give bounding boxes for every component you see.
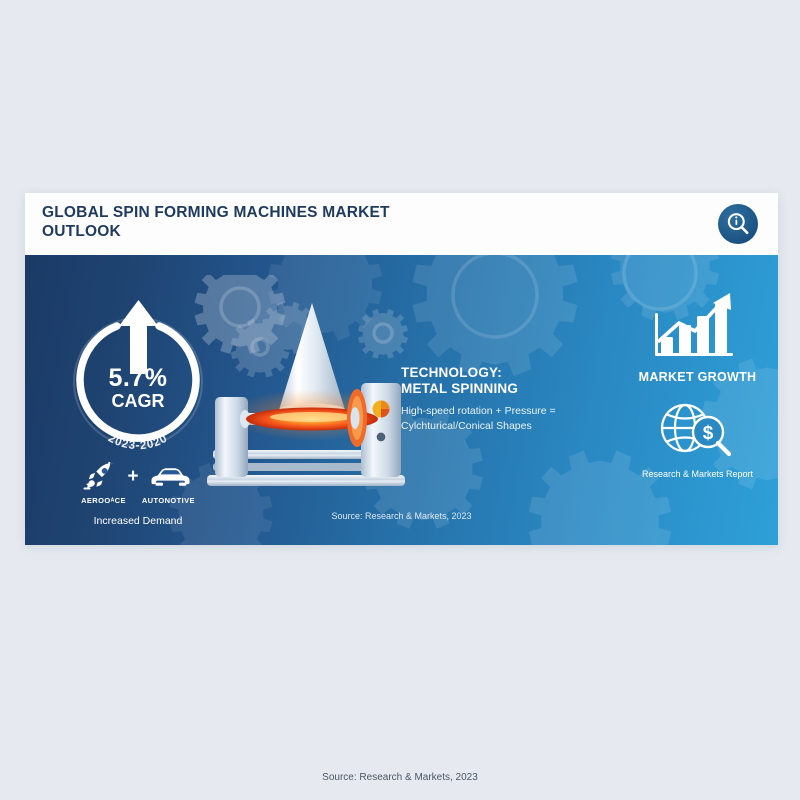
technology-detail-2: Cylchturical/Conical Shapes xyxy=(401,419,631,434)
search-info-icon[interactable] xyxy=(718,204,758,244)
spin-forming-machine-illustration xyxy=(185,275,435,505)
page-root: GLOBAL SPIN FORMING MACHINES MARKET OUTL… xyxy=(0,0,800,800)
growth-bar-4 xyxy=(715,303,727,355)
globe-magnifier-dollar-icon: $ xyxy=(625,398,770,460)
title-line-1: GLOBAL SPIN FORMING MACHINES MARKET xyxy=(42,203,602,222)
technology-section: TECHNOLOGY: METAL SPINNING High-speed ro… xyxy=(401,365,631,434)
source-inner: Source: Research & Markets, 2023 xyxy=(25,511,778,521)
bar-chart-growth-icon xyxy=(625,285,770,361)
banner-header: GLOBAL SPIN FORMING MACHINES MARKET OUTL… xyxy=(25,193,778,255)
tailstock-right xyxy=(361,383,401,477)
technology-heading-1: TECHNOLOGY: xyxy=(401,365,631,381)
control-indicator xyxy=(373,401,390,418)
dollar-glyph: $ xyxy=(703,423,714,444)
up-arrow-icon xyxy=(119,300,158,374)
title-line-2: OUTLOOK xyxy=(42,222,602,241)
technology-detail-1: High-speed rotation + Pressure = xyxy=(401,404,631,419)
market-growth-label: MARKET GROWTH xyxy=(625,370,770,384)
technology-heading-2: METAL SPINNING xyxy=(401,381,631,397)
demand-label-aerospace: AEROOᴬCE xyxy=(81,496,126,505)
demand-separator: + xyxy=(127,466,138,488)
search-info-glyph xyxy=(718,204,758,244)
banner-body: 2023-2020 5.7% CAGR xyxy=(25,255,778,545)
headstock-left xyxy=(215,397,248,477)
machine-graphic xyxy=(185,275,435,505)
footer-source: Source: Research & Markets, 2023 xyxy=(0,772,800,783)
magnifier-handle xyxy=(718,443,729,454)
report-label: Research & Markets Report xyxy=(625,469,770,479)
right-column: MARKET GROWTH $ Research & Markets Repor… xyxy=(625,285,770,479)
rocket-icon xyxy=(83,462,117,492)
infographic-banner: GLOBAL SPIN FORMING MACHINES MARKET OUTL… xyxy=(25,193,778,545)
page-title: GLOBAL SPIN FORMING MACHINES MARKET OUTL… xyxy=(42,203,602,241)
